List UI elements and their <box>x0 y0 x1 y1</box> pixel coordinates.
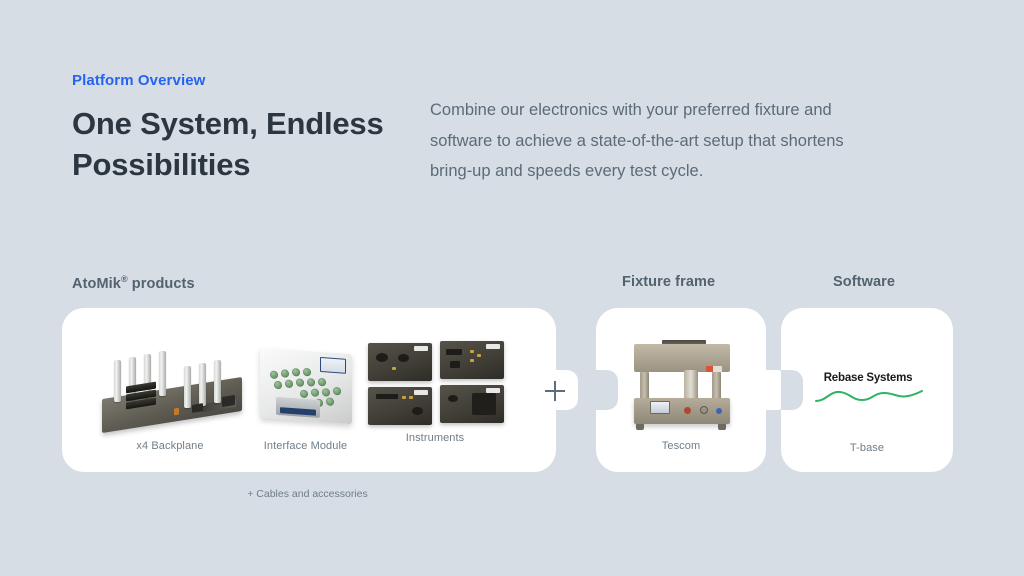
module-connector-port <box>311 388 319 397</box>
instrument-component <box>446 349 462 355</box>
registered-trademark-icon: ® <box>121 274 128 284</box>
section-label-fixture-frame: Fixture frame <box>622 274 715 290</box>
interface-module-chassis <box>260 348 352 424</box>
instrument-card <box>368 343 432 381</box>
instrument-component <box>376 394 398 399</box>
caption-tbase: T-base <box>807 442 927 454</box>
instrument-component <box>392 367 396 370</box>
rebase-systems-logo: Rebase Systems <box>812 372 924 406</box>
instrument-component <box>470 359 474 362</box>
instrument-component <box>376 353 388 362</box>
fixture-card-notch <box>596 370 618 410</box>
intro-paragraph: Combine our electronics with your prefer… <box>430 95 890 187</box>
cables-accessories-note: + Cables and accessories <box>205 488 410 500</box>
atomik-wordmark: AtoMik <box>72 276 121 292</box>
module-connector-port <box>292 368 300 377</box>
module-connector-port <box>270 370 278 379</box>
module-connector-port <box>303 368 311 377</box>
plus-connector-icon <box>545 381 565 401</box>
caption-interface-module: Interface Module <box>248 440 363 452</box>
caption-instruments: Instruments <box>385 432 485 444</box>
tescom-base-unit <box>634 398 730 424</box>
standoff-post <box>199 363 206 406</box>
caption-tescom: Tescom <box>621 440 741 452</box>
product-image-instruments <box>368 341 508 429</box>
instrument-component <box>450 361 460 368</box>
module-connector-port <box>326 397 334 406</box>
module-connector-port <box>296 378 304 387</box>
module-connector-port <box>333 387 341 396</box>
product-image-tescom <box>626 338 738 430</box>
tescom-knob <box>684 407 691 414</box>
module-io-panel <box>276 397 320 418</box>
atomik-label-tail: products <box>128 276 195 292</box>
module-connector-port <box>318 378 326 387</box>
tescom-foot <box>636 424 644 430</box>
board-chip <box>222 395 235 407</box>
backplane-pcb <box>102 377 242 433</box>
instrument-card <box>440 341 504 379</box>
instrument-component <box>477 354 481 357</box>
instrument-component <box>398 354 409 362</box>
product-image-backplane <box>96 344 246 432</box>
module-connector-port <box>285 380 293 389</box>
module-connector-port <box>307 378 315 387</box>
module-connector-port <box>274 381 282 390</box>
tescom-display <box>650 401 670 414</box>
instrument-component <box>470 350 474 353</box>
section-label-atomik-products: AtoMik® products <box>72 274 195 292</box>
module-connector-port <box>322 388 330 397</box>
page-title: One System, Endless Possibilities <box>72 104 472 186</box>
standoff-post <box>114 360 121 402</box>
rebase-wave-icon <box>812 386 924 406</box>
instrument-component <box>472 393 496 415</box>
eyebrow-label: Platform Overview <box>72 72 205 89</box>
product-image-interface-module <box>252 343 360 431</box>
standoff-post <box>184 366 191 408</box>
standoff-post <box>214 360 221 403</box>
instrument-component <box>402 396 406 399</box>
instrument-card <box>368 387 432 425</box>
instrument-component <box>409 396 413 399</box>
caption-backplane: x4 Backplane <box>110 440 230 452</box>
software-card-notch <box>781 370 803 410</box>
module-connector-port <box>281 369 289 378</box>
section-label-software: Software <box>833 274 895 290</box>
tescom-knob <box>700 406 708 414</box>
tescom-upper-housing <box>634 344 730 372</box>
card-software[interactable]: Rebase Systems T-base <box>781 308 953 472</box>
instrument-component <box>412 407 423 415</box>
tescom-knob <box>716 408 722 414</box>
tescom-foot <box>718 424 726 430</box>
instrument-card <box>440 385 504 423</box>
card-fixture-frame[interactable]: Tescom <box>596 308 766 472</box>
slide-root: Platform Overview One System, Endless Po… <box>0 0 1024 576</box>
module-connector-port <box>300 390 308 399</box>
module-display-screen <box>320 357 346 374</box>
instrument-component <box>448 395 458 402</box>
board-chip <box>174 408 179 416</box>
rebase-systems-wordmark: Rebase Systems <box>812 372 924 384</box>
standoff-post <box>159 351 166 396</box>
card-atomik-products[interactable]: x4 Backplane Interface Module Instrument… <box>62 308 556 472</box>
